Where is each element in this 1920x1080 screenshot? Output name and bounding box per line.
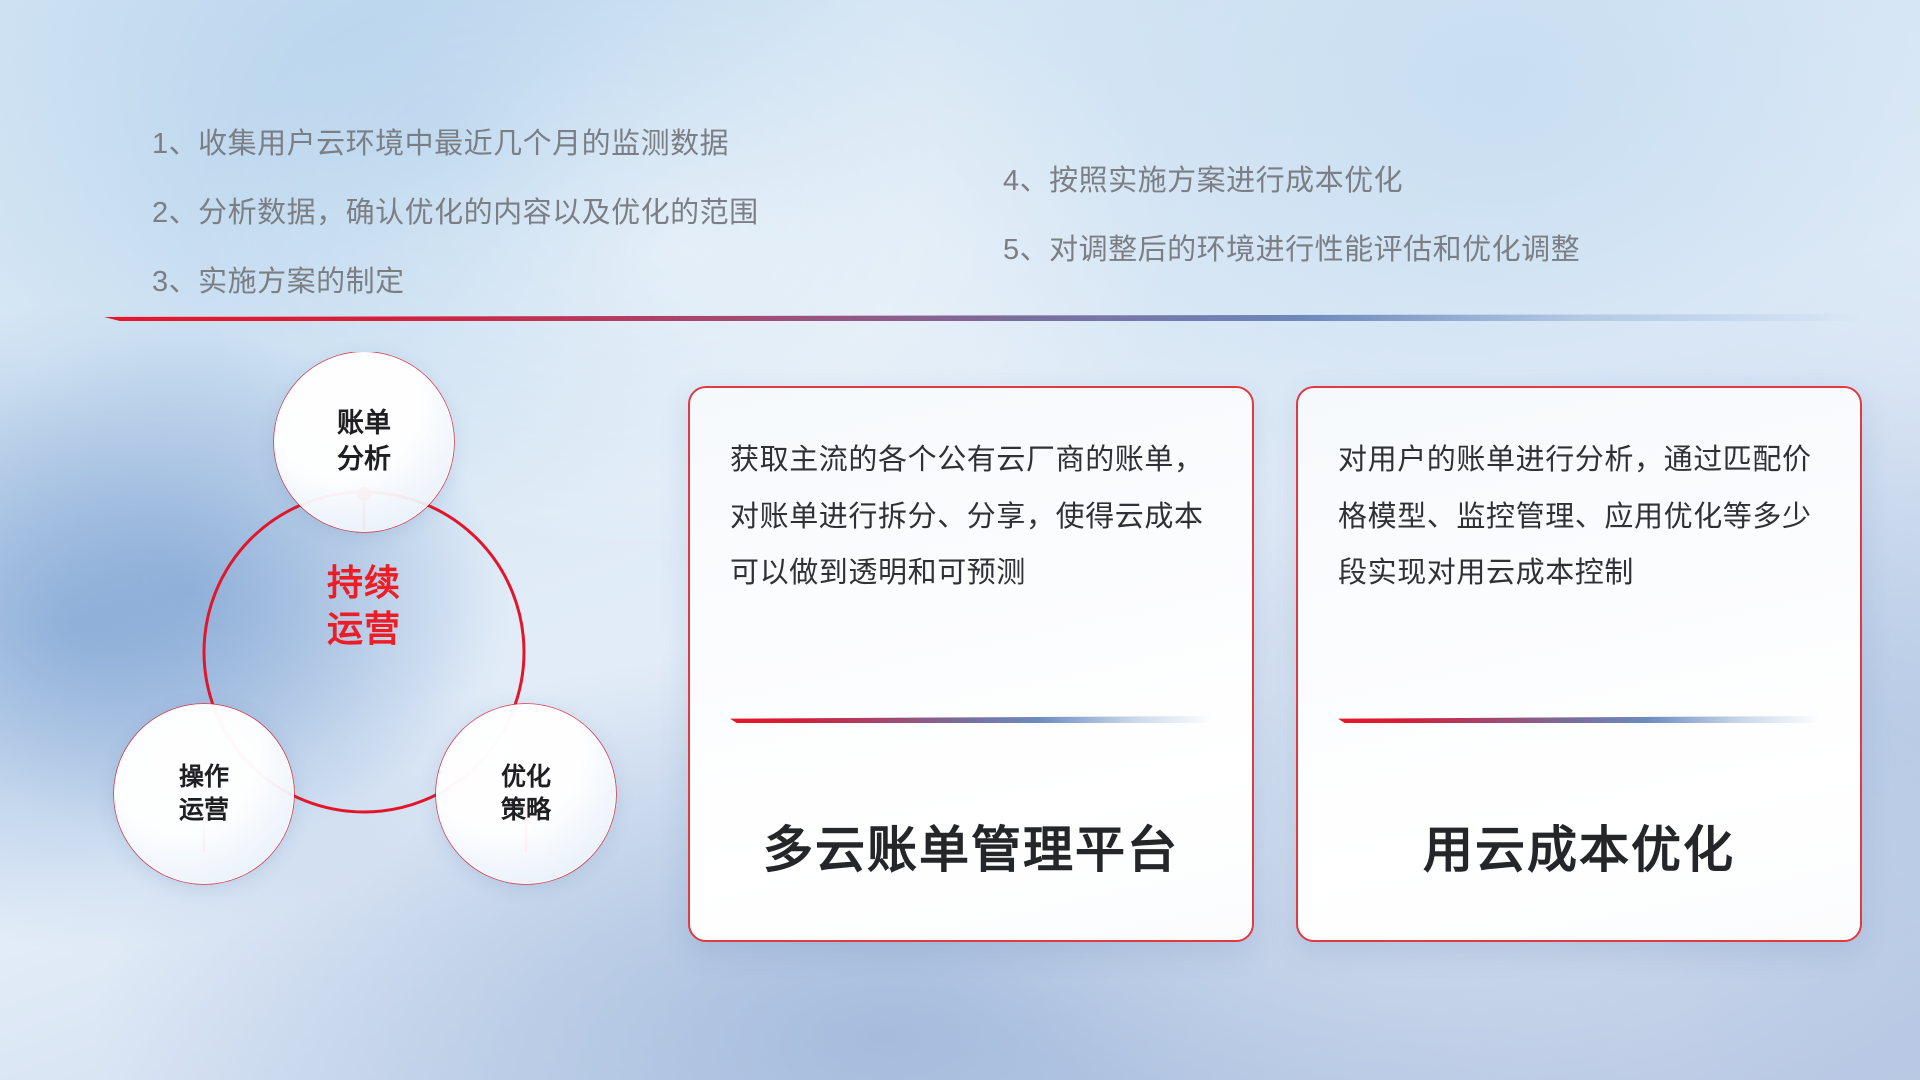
- step-item-2: 2、分析数据，确认优化的内容以及优化的范围: [152, 189, 759, 231]
- card-divider-rule: [1338, 716, 1820, 723]
- card-body-text: 获取主流的各个公有云厂商的账单，对账单进行拆分、分享，使得云成本可以做到透明和可…: [730, 432, 1212, 690]
- steps-list-left: 1、收集用户云环境中最近几个月的监测数据 2、分析数据，确认优化的内容以及优化的…: [152, 120, 759, 300]
- steps-list-right: 4、按照实施方案进行成本优化 5、对调整后的环境进行性能评估和优化调整: [1003, 157, 1580, 268]
- venn-bubble-label-line2: 分析: [337, 442, 391, 478]
- venn-bubble-label-line1: 操作: [179, 761, 229, 794]
- card-body-text: 对用户的账单进行分析，通过匹配价格模型、监控管理、应用优化等多少段实现对用云成本…: [1338, 432, 1820, 690]
- venn-bubble-label-line1: 账单: [337, 406, 391, 442]
- step-item-4: 4、按照实施方案进行成本优化: [1003, 157, 1580, 199]
- venn-bubble-operation[interactable]: 操作 运营: [114, 704, 294, 884]
- venn-center-label-line1: 持续: [274, 560, 454, 606]
- venn-bubble-label-line2: 策略: [501, 794, 551, 827]
- venn-center-label: 持续 运营: [274, 560, 454, 652]
- venn-bubble-optimization-strategy[interactable]: 优化 策略: [436, 704, 616, 884]
- info-card-cloud-cost-optimization[interactable]: 对用户的账单进行分析，通过匹配价格模型、监控管理、应用优化等多少段实现对用云成本…: [1296, 386, 1862, 942]
- step-item-1: 1、收集用户云环境中最近几个月的监测数据: [152, 120, 759, 162]
- venn-diagram: 账单 分析 操作 运营 优化 策略 持续 运营: [96, 352, 656, 942]
- venn-bubble-bill-analysis[interactable]: 账单 分析: [274, 352, 454, 532]
- step-item-5: 5、对调整后的环境进行性能评估和优化调整: [1003, 226, 1580, 268]
- card-divider-rule: [730, 716, 1212, 723]
- card-title: 多云账单管理平台: [730, 810, 1212, 882]
- venn-bubble-label-line2: 运营: [179, 794, 229, 827]
- section-divider-rule: [104, 314, 1864, 321]
- divider-gradient-bar: [104, 314, 1864, 321]
- card-title: 用云成本优化: [1338, 810, 1820, 882]
- info-card-multi-cloud-billing-platform[interactable]: 获取主流的各个公有云厂商的账单，对账单进行拆分、分享，使得云成本可以做到透明和可…: [688, 386, 1254, 942]
- step-item-3: 3、实施方案的制定: [152, 258, 759, 300]
- venn-center-label-line2: 运营: [274, 606, 454, 652]
- venn-bubble-label-line1: 优化: [501, 761, 551, 794]
- slide-canvas: 1、收集用户云环境中最近几个月的监测数据 2、分析数据，确认优化的内容以及优化的…: [0, 0, 1920, 1080]
